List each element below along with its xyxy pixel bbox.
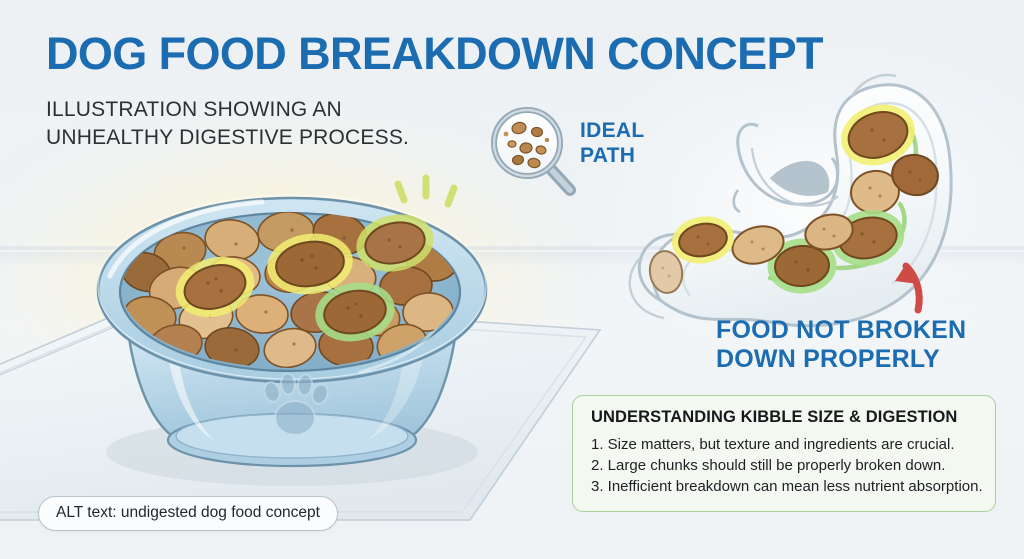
not-broken-down-label: FOOD NOT BROKEN DOWN PROPERLY (716, 316, 966, 374)
magnifier-icon (494, 110, 570, 190)
info-box-title: UNDERSTANDING KIBBLE SIZE & DIGESTION (591, 408, 979, 427)
stomach-outline-icon (734, 124, 838, 212)
info-box-list: 1. Size matters, but texture and ingredi… (591, 434, 979, 497)
subtitle-line-1: ILLUSTRATION SHOWING AN (46, 96, 409, 124)
not-broken-line-1: FOOD NOT BROKEN (716, 316, 966, 345)
info-list-item: 3. Inefficient breakdown can mean less n… (591, 476, 979, 497)
alt-text-pill: ALT text: undigested dog food concept (38, 496, 338, 531)
subtitle-line-2: UNHEALTHY DIGESTIVE PROCESS. (46, 124, 409, 152)
not-broken-line-2: DOWN PROPERLY (716, 345, 966, 374)
ideal-path-line-2: PATH (580, 143, 645, 168)
page-subtitle: ILLUSTRATION SHOWING AN UNHEALTHY DIGEST… (46, 96, 409, 152)
page-title: DOG FOOD BREAKDOWN CONCEPT (46, 28, 823, 80)
sparkle-icon (398, 178, 454, 204)
infographic-canvas: DOG FOOD BREAKDOWN CONCEPT ILLUSTRATION … (0, 0, 1024, 559)
digestive-tract-icon (630, 75, 951, 326)
info-list-item: 1. Size matters, but texture and ingredi… (591, 434, 979, 455)
ideal-path-line-1: IDEAL (580, 118, 645, 143)
dog-bowl-icon (98, 178, 486, 486)
ideal-path-label: IDEAL PATH (580, 118, 645, 168)
info-box: UNDERSTANDING KIBBLE SIZE & DIGESTION 1.… (572, 395, 996, 512)
info-list-item: 2. Large chunks should still be properly… (591, 455, 979, 476)
